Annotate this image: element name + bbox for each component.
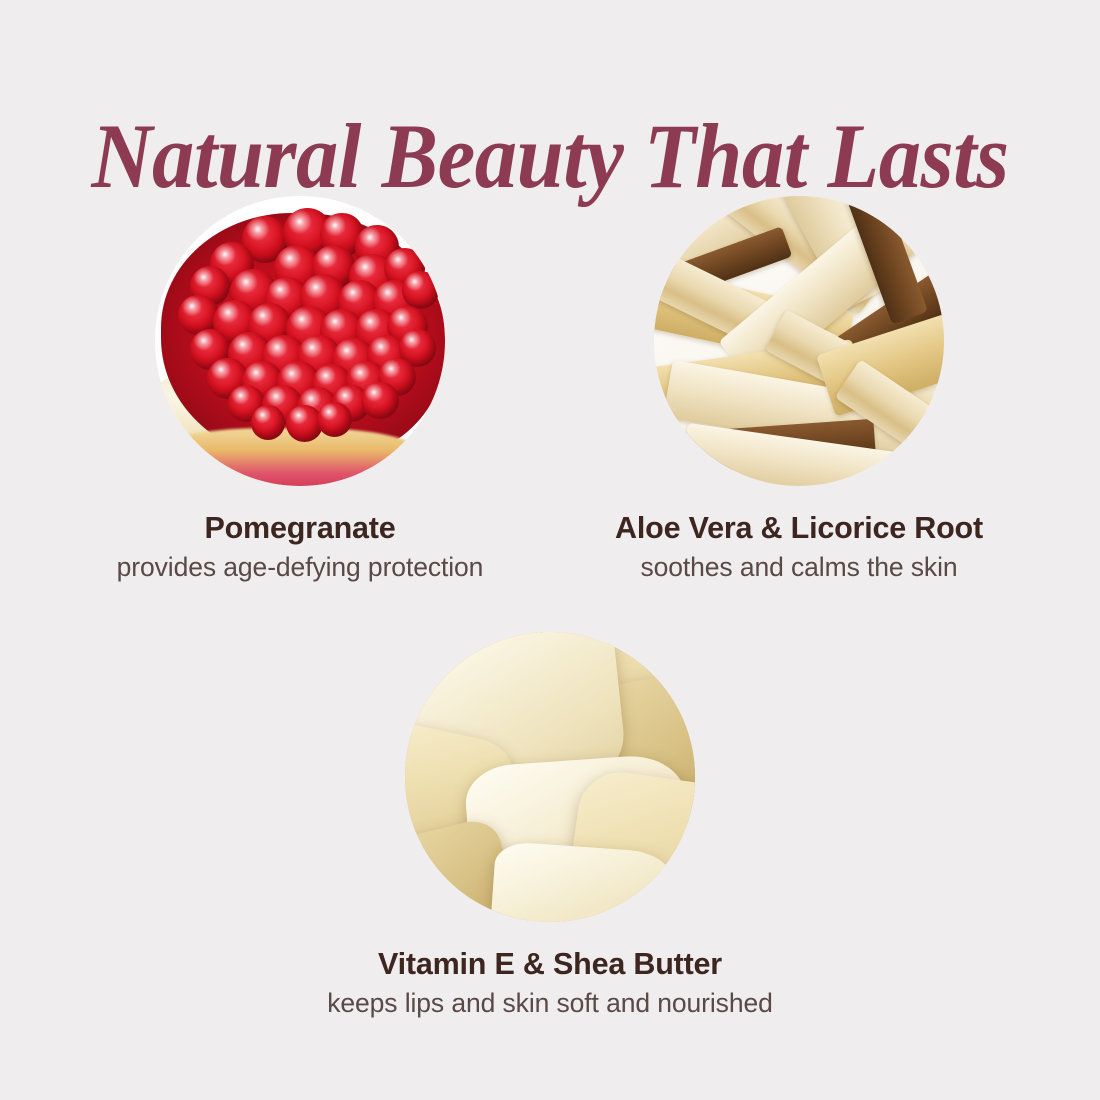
pomegranate-seed bbox=[317, 402, 352, 437]
aloe-vera-licorice-root-photo bbox=[654, 196, 944, 486]
feature-card-aloe-licorice: Aloe Vera & Licorice Root soothes and ca… bbox=[549, 196, 1049, 582]
page-title: Natural Beauty That Lasts bbox=[44, 110, 1056, 202]
feature-card-vitamin-e-shea: Vitamin E & Shea Butter keeps lips and s… bbox=[300, 632, 800, 1018]
feature-description: soothes and calms the skin bbox=[549, 552, 1049, 582]
vitamin-e-shea-butter-photo bbox=[405, 632, 695, 922]
pomegranate-rind bbox=[155, 428, 422, 486]
feature-title: Pomegranate bbox=[50, 512, 550, 546]
feature-title: Aloe Vera & Licorice Root bbox=[549, 512, 1049, 546]
feature-title: Vitamin E & Shea Butter bbox=[300, 948, 800, 982]
pomegranate-photo bbox=[155, 196, 445, 486]
feature-description: keeps lips and skin soft and nourished bbox=[300, 988, 800, 1018]
pomegranate-seed bbox=[361, 382, 399, 420]
feature-grid: Pomegranate provides age-defying protect… bbox=[0, 196, 1100, 1076]
pomegranate-seed bbox=[402, 271, 440, 309]
feature-description: provides age-defying protection bbox=[50, 552, 550, 582]
pomegranate-seed bbox=[251, 405, 286, 440]
feature-card-pomegranate: Pomegranate provides age-defying protect… bbox=[50, 196, 550, 582]
